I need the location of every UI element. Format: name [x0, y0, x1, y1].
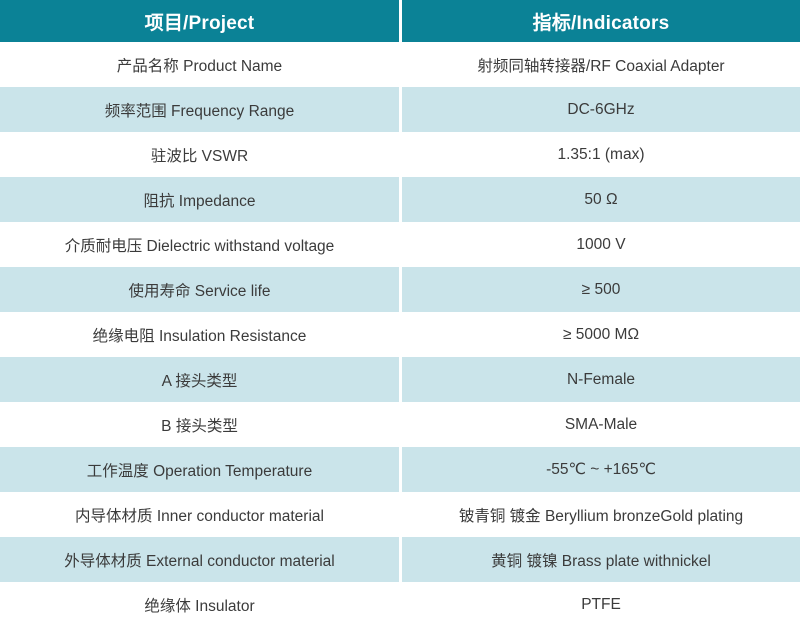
cell-project: 阻抗 Impedance [0, 177, 399, 222]
cell-indicator: ≥ 5000 MΩ [402, 312, 800, 357]
cell-project: 产品名称 Product Name [0, 42, 399, 87]
table-row: 阻抗 Impedance50 Ω [0, 177, 800, 222]
cell-indicator: DC-6GHz [402, 87, 800, 132]
cell-indicator: ≥ 500 [402, 267, 800, 312]
table-row: 内导体材质 Inner conductor material铍青铜 镀金 Ber… [0, 492, 800, 537]
cell-project: 介质耐电压 Dielectric withstand voltage [0, 222, 399, 267]
specification-table: 项目/Project 指标/Indicators 产品名称 Product Na… [0, 0, 800, 627]
table-row: B 接头类型SMA-Male [0, 402, 800, 447]
cell-project: 工作温度 Operation Temperature [0, 447, 399, 492]
cell-project: 外导体材质 External conductor material [0, 537, 399, 582]
table-body: 产品名称 Product Name射频同轴转接器/RF Coaxial Adap… [0, 42, 800, 627]
cell-indicator: -55℃ ~ +165℃ [402, 447, 800, 492]
table-row: 产品名称 Product Name射频同轴转接器/RF Coaxial Adap… [0, 42, 800, 87]
table-header: 项目/Project 指标/Indicators [0, 0, 800, 42]
table-row: 工作温度 Operation Temperature-55℃ ~ +165℃ [0, 447, 800, 492]
table-row: 外导体材质 External conductor material黄铜 镀镍 B… [0, 537, 800, 582]
cell-project: 绝缘电阻 Insulation Resistance [0, 312, 399, 357]
cell-project: 驻波比 VSWR [0, 132, 399, 177]
cell-indicator: 黄铜 镀镍 Brass plate withnickel [402, 537, 800, 582]
cell-project: 绝缘体 Insulator [0, 582, 399, 627]
table-row: 介质耐电压 Dielectric withstand voltage1000 V [0, 222, 800, 267]
cell-indicator: 射频同轴转接器/RF Coaxial Adapter [402, 42, 800, 87]
table-row: 频率范围 Frequency RangeDC-6GHz [0, 87, 800, 132]
column-header-indicators: 指标/Indicators [402, 0, 800, 42]
cell-indicator: PTFE [402, 582, 800, 627]
cell-indicator: 铍青铜 镀金 Beryllium bronzeGold plating [402, 492, 800, 537]
cell-indicator: 1000 V [402, 222, 800, 267]
cell-indicator: 1.35:1 (max) [402, 132, 800, 177]
cell-project: 频率范围 Frequency Range [0, 87, 399, 132]
cell-project: 内导体材质 Inner conductor material [0, 492, 399, 537]
table-row: 绝缘体 InsulatorPTFE [0, 582, 800, 627]
cell-project: B 接头类型 [0, 402, 399, 447]
table-row: 使用寿命 Service life≥ 500 [0, 267, 800, 312]
cell-indicator: 50 Ω [402, 177, 800, 222]
cell-indicator: SMA-Male [402, 402, 800, 447]
cell-project: 使用寿命 Service life [0, 267, 399, 312]
table-row: 驻波比 VSWR1.35:1 (max) [0, 132, 800, 177]
table-row: A 接头类型N-Female [0, 357, 800, 402]
column-header-project: 项目/Project [0, 0, 399, 42]
cell-project: A 接头类型 [0, 357, 399, 402]
table-row: 绝缘电阻 Insulation Resistance≥ 5000 MΩ [0, 312, 800, 357]
header-row: 项目/Project 指标/Indicators [0, 0, 800, 42]
cell-indicator: N-Female [402, 357, 800, 402]
